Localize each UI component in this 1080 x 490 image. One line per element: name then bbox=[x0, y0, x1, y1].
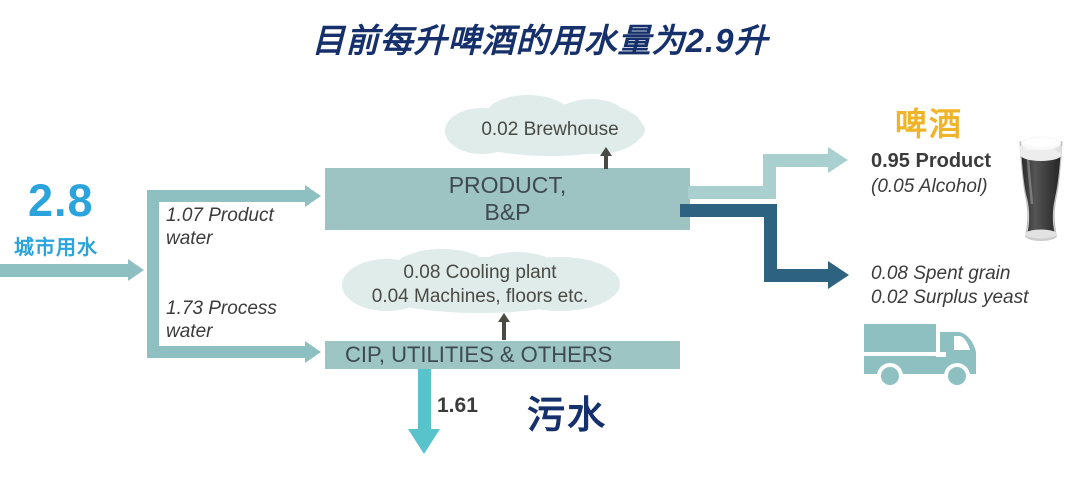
cip-box-label: CIP, UTILITIES & OTHERS bbox=[345, 342, 612, 368]
output-beer-arrow-head bbox=[828, 147, 848, 173]
output-grain-bar1 bbox=[680, 204, 777, 217]
product-box-line2: B&P bbox=[484, 199, 530, 225]
wastewater-arrow-head bbox=[408, 429, 440, 454]
output-grain-arrow-head bbox=[828, 261, 849, 289]
page-title: 目前每升啤酒的用水量为2.9升 bbox=[0, 14, 1080, 62]
wastewater-arrow-bar bbox=[418, 369, 431, 431]
cloud-brewhouse-text: 0.02 Brewhouse bbox=[481, 119, 618, 141]
process-water-line1: 1.73 Process bbox=[166, 298, 277, 319]
process-box-cip: CIP, UTILITIES & OTHERS bbox=[325, 341, 680, 369]
cooling-up-arrow-head bbox=[498, 313, 510, 322]
wastewater-value: 1.61 bbox=[437, 394, 478, 418]
output-alcohol-label: (0.05 Alcohol) bbox=[871, 176, 988, 198]
brewhouse-up-arrow-stem bbox=[604, 155, 608, 169]
source-label: 城市用水 bbox=[14, 231, 98, 260]
process-box-product: PRODUCT, B&P bbox=[325, 168, 690, 230]
source-value: 2.8 bbox=[28, 178, 94, 223]
output-grain-bar3 bbox=[764, 269, 830, 282]
surplus-yeast-label: 0.02 Surplus yeast bbox=[871, 287, 1028, 308]
branch-product-bar bbox=[147, 190, 307, 202]
wastewater-label: 污水 bbox=[527, 384, 607, 439]
inflow-arrow-head bbox=[128, 259, 144, 281]
branch-process-arrow-head bbox=[305, 341, 321, 363]
infographic-canvas: 目前每升啤酒的用水量为2.9升 2.8 城市用水 1.07 Product wa… bbox=[0, 0, 1080, 490]
split-vertical-bar bbox=[147, 190, 159, 358]
cloud-cooling-line2: 0.04 Machines, floors etc. bbox=[372, 286, 589, 307]
branch-product-arrow-head bbox=[305, 185, 321, 207]
spent-grain-label: 0.08 Spent grain bbox=[871, 263, 1010, 284]
cloud-cooling: 0.08 Cooling plant 0.04 Machines, floors… bbox=[360, 257, 600, 313]
branch-process-bar bbox=[147, 346, 307, 358]
product-water-line1: 1.07 Product bbox=[166, 205, 274, 226]
inflow-arrow-bar bbox=[0, 264, 128, 277]
output-beer-bar3 bbox=[763, 154, 830, 167]
process-water-line2: water bbox=[166, 321, 212, 342]
cooling-up-arrow-stem bbox=[502, 322, 506, 340]
product-box-line1: PRODUCT, bbox=[449, 172, 567, 198]
product-water-note: 1.07 Product water bbox=[166, 204, 274, 250]
cloud-cooling-line1: 0.08 Cooling plant bbox=[403, 262, 556, 283]
output-byproducts-label: 0.08 Spent grain 0.02 Surplus yeast bbox=[871, 262, 1028, 310]
output-product-label: 0.95 Product bbox=[871, 150, 991, 173]
process-water-note: 1.73 Process water bbox=[166, 297, 277, 343]
cloud-brewhouse: 0.02 Brewhouse bbox=[455, 104, 645, 156]
beer-cn-label: 啤酒 bbox=[895, 99, 963, 145]
beer-glass-icon bbox=[1012, 128, 1070, 248]
brewhouse-up-arrow-head bbox=[600, 147, 612, 156]
product-water-line2: water bbox=[166, 228, 212, 249]
truck-icon bbox=[862, 318, 982, 390]
